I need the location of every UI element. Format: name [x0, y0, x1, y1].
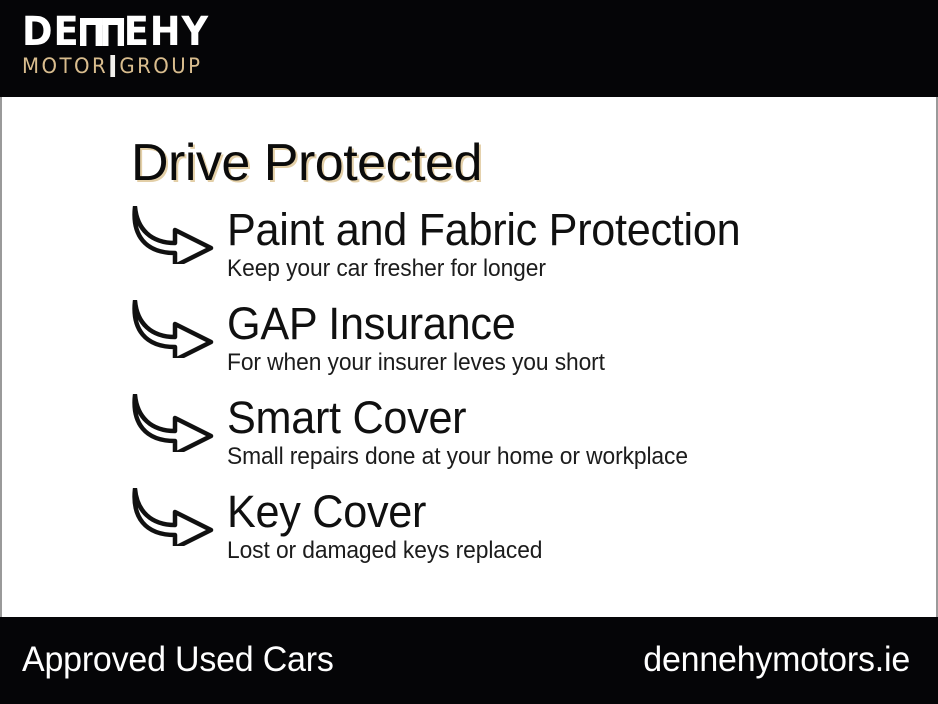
- feature-title: Key Cover: [227, 486, 546, 538]
- header-bar: DEEHY MOTORGROUP: [0, 0, 938, 97]
- logo-wordmark: DEEHY: [22, 12, 234, 52]
- feature-title: Smart Cover: [227, 392, 693, 444]
- logo-wordmark-part-2: EHY: [124, 9, 209, 55]
- feature-text: Smart Cover Small repairs done at your h…: [227, 392, 712, 471]
- main-panel: Drive Protected Paint and Fabric Protect…: [0, 97, 938, 617]
- logo-subtitle-group: GROUP: [119, 54, 202, 78]
- feature-text: GAP Insurance For when your insurer leve…: [227, 298, 625, 377]
- logo-squared-n-icon: [102, 18, 124, 47]
- feature-subtitle: Keep your car fresher for longer: [227, 254, 735, 283]
- logo-wordmark-part-1: DE: [22, 9, 80, 55]
- feature-text: Key Cover Lost or damaged keys replaced: [227, 486, 559, 565]
- dennehy-motor-group-logo: DEEHY MOTORGROUP: [22, 12, 252, 78]
- logo-squared-n-icon: [80, 18, 102, 47]
- feature-title: GAP Insurance: [227, 298, 609, 350]
- list-item: Paint and Fabric Protection Keep your ca…: [131, 204, 921, 298]
- curved-arrow-icon: [131, 488, 217, 546]
- feature-text: Paint and Fabric Protection Keep your ca…: [227, 204, 762, 283]
- curved-arrow-icon: [131, 206, 217, 264]
- list-item: Smart Cover Small repairs done at your h…: [131, 392, 921, 486]
- drive-protected-banner: DEEHY MOTORGROUP Drive Protected Paint a…: [0, 0, 938, 704]
- logo-divider-bar-icon: [110, 55, 115, 77]
- page-title: Drive Protected: [131, 134, 482, 192]
- list-item: Key Cover Lost or damaged keys replaced: [131, 486, 921, 580]
- feature-list: Paint and Fabric Protection Keep your ca…: [131, 204, 921, 580]
- feature-title: Paint and Fabric Protection: [227, 204, 740, 256]
- curved-arrow-icon: [131, 394, 217, 452]
- curved-arrow-icon: [131, 300, 217, 358]
- logo-subtitle-motor: MOTOR: [22, 54, 108, 78]
- feature-subtitle: Small repairs done at your home or workp…: [227, 442, 688, 471]
- feature-subtitle: Lost or damaged keys replaced: [227, 536, 542, 565]
- footer-bar: Approved Used Cars dennehymotors.ie: [0, 617, 938, 704]
- footer-tagline: Approved Used Cars: [22, 639, 334, 681]
- footer-website-url[interactable]: dennehymotors.ie: [643, 639, 910, 681]
- feature-subtitle: For when your insurer leves you short: [227, 348, 605, 377]
- list-item: GAP Insurance For when your insurer leve…: [131, 298, 921, 392]
- logo-subtitle: MOTORGROUP: [22, 54, 238, 78]
